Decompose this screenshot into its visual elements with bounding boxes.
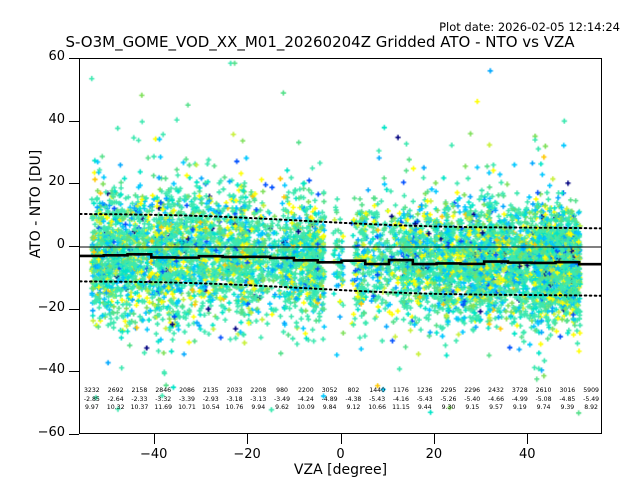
x-tick-label: 0 [306, 447, 376, 462]
y-tick [69, 121, 79, 122]
x-axis-label: VZA [degree] [79, 462, 602, 478]
bin-stat-count: 5909 [571, 387, 601, 396]
data-clip-region: 3232-2.859.972692-2.6410.322158-2.3310.3… [80, 59, 601, 433]
bin-stat-stdev: 8.92 [571, 404, 601, 413]
bin-stat-median: -5.49 [571, 396, 601, 405]
y-tick-label: 20 [5, 174, 65, 189]
x-tick-label: 20 [399, 447, 469, 462]
upper-percentile-dotted-line [80, 214, 601, 228]
y-tick [69, 183, 79, 184]
lower-percentile-dotted-line [80, 281, 601, 295]
y-tick [69, 371, 79, 372]
y-tick [69, 434, 79, 435]
plot-area: 3232-2.859.972692-2.6410.322158-2.3310.3… [79, 58, 602, 434]
x-tick-label: 40 [492, 447, 562, 462]
y-tick-label: −20 [5, 300, 65, 315]
median-step-line [80, 254, 601, 264]
x-tick [247, 434, 248, 444]
x-tick [341, 434, 342, 444]
y-axis-label: ATO - NTO [DU] [28, 4, 44, 404]
x-tick-label: −20 [212, 447, 282, 462]
x-tick-label: −40 [119, 447, 189, 462]
y-tick-label: 0 [5, 237, 65, 252]
y-tick-label: −40 [5, 362, 65, 377]
x-tick [154, 434, 155, 444]
y-tick [69, 58, 79, 59]
y-tick [69, 246, 79, 247]
figure-canvas: Plot date: 2026-02-05 12:14:24 S-O3M_GOM… [0, 0, 640, 480]
y-tick [69, 309, 79, 310]
plot-date-label: Plot date: 2026-02-05 12:14:24 [439, 20, 620, 34]
bin-stat-column: 5909-5.498.92 [571, 387, 601, 413]
reference-lines-layer [80, 59, 601, 433]
y-tick-label: 40 [5, 112, 65, 127]
page-title: S-O3M_GOME_VOD_XX_M01_20260204Z Gridded … [0, 33, 640, 51]
y-tick-label: −60 [5, 425, 65, 440]
x-tick [434, 434, 435, 444]
y-tick-label: 60 [5, 49, 65, 64]
x-tick [527, 434, 528, 444]
